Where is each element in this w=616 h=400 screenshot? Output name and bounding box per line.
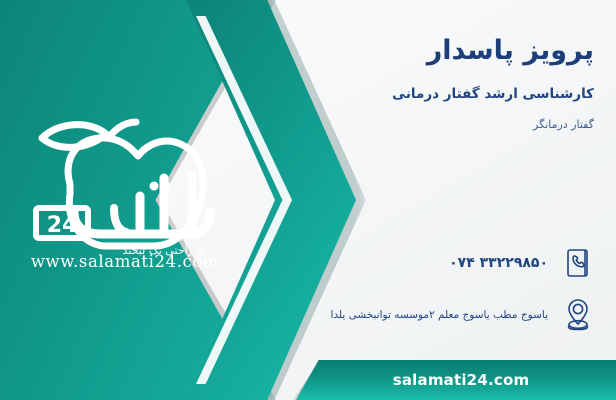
business-card: 24 به راحتی یک لبخند www.salamati24.com … [0, 0, 616, 400]
footer-site[interactable]: salamati24.com [393, 371, 530, 389]
person-name: پرویز پاسدار [254, 34, 594, 68]
map-pin-icon [558, 294, 598, 336]
phone-number[interactable]: ۳۳۲۲۹۸۵۰ ۰۷۴ [228, 255, 548, 271]
contact-row-address: یاسوج مطب یاسوج معلم ۲موسسه توانبخشی یلد… [228, 294, 598, 336]
contact-row-phone: ۳۳۲۲۹۸۵۰ ۰۷۴ [228, 242, 598, 284]
footer-bar: salamati24.com [296, 360, 616, 400]
address-text[interactable]: یاسوج مطب یاسوج معلم ۲موسسه توانبخشی یلد… [228, 308, 548, 323]
phonebook-icon [558, 242, 598, 284]
person-info: پرویز پاسدار کارشناسی ارشد گفتار درمانی … [254, 34, 594, 131]
person-title: کارشناسی ارشد گفتار درمانی [254, 86, 594, 102]
brand-logo: 24 به راحتی یک لبخند www.salamati24.com [14, 112, 234, 282]
logo-url[interactable]: www.salamati24.com [20, 252, 230, 271]
person-role: گفتار درمانگر [254, 118, 594, 131]
contact-list: ۳۳۲۲۹۸۵۰ ۰۷۴ یاسوج مطب یاسوج معلم ۲موسسه… [228, 242, 598, 346]
svg-text:24: 24 [47, 213, 78, 238]
